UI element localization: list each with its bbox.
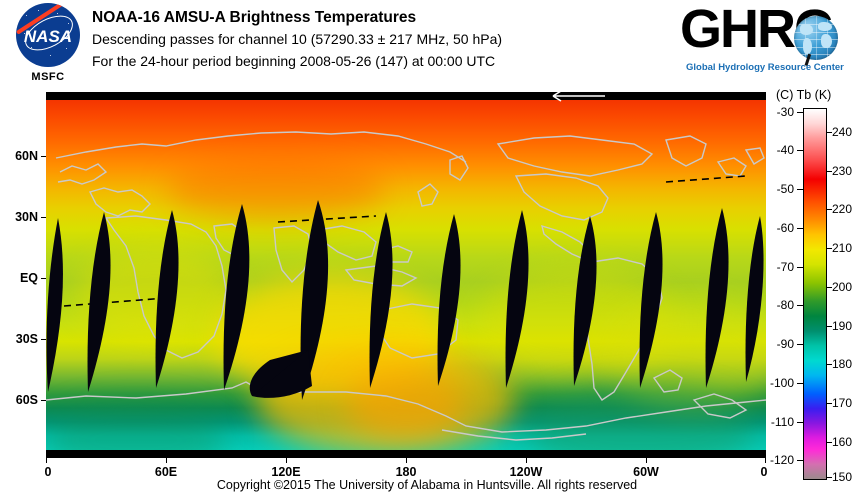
y-axis-label-60s: 60S bbox=[0, 393, 38, 407]
colorbar-gradient bbox=[803, 108, 827, 480]
colorbar-kelvin-label: 220 bbox=[832, 202, 852, 216]
ghrc-tagline: Global Hydrology Resource Center bbox=[686, 62, 836, 73]
y-axis-label-30n: 30N bbox=[0, 210, 38, 224]
nasa-insignia-circle: NASA bbox=[16, 3, 80, 67]
colorbar-kelvin-label: 180 bbox=[832, 357, 852, 371]
map-canvas[interactable] bbox=[46, 100, 766, 450]
x-tick bbox=[406, 458, 407, 463]
x-axis-label-60w: 60W bbox=[633, 465, 659, 479]
x-axis-label-180: 180 bbox=[396, 465, 417, 479]
colorbar-kelvin-label: 160 bbox=[832, 435, 852, 449]
colorbar-tick-left bbox=[797, 422, 803, 423]
ghrc-globe-icon bbox=[794, 16, 838, 60]
x-axis-label-120w: 120W bbox=[510, 465, 543, 479]
x-axis-label-60e: 60E bbox=[155, 465, 177, 479]
nasa-center-label: MSFC bbox=[8, 71, 88, 83]
colorbar-tick-left bbox=[797, 344, 803, 345]
colorbar-celsius-label: -60 bbox=[752, 221, 794, 235]
y-tick bbox=[41, 217, 46, 218]
nadir-arrow-icon bbox=[551, 90, 607, 102]
title-subtitle-channel: Descending passes for channel 10 (57290.… bbox=[92, 28, 672, 50]
colorbar-tick-left bbox=[797, 460, 803, 461]
x-tick bbox=[646, 458, 647, 463]
y-tick bbox=[41, 339, 46, 340]
colorbar-celsius-label: -90 bbox=[752, 337, 794, 351]
colorbar-celsius-label: -50 bbox=[752, 182, 794, 196]
colorbar-celsius-label: -100 bbox=[752, 376, 794, 390]
colorbar-tick-left bbox=[797, 150, 803, 151]
colorbar-celsius-label: -120 bbox=[752, 453, 794, 467]
x-tick bbox=[526, 458, 527, 463]
x-axis-label-0-right: 0 bbox=[761, 465, 768, 479]
y-tick bbox=[41, 278, 46, 279]
map-plot[interactable]: 0 60E 120E 180 120W 60W 0 60N 30N EQ 30S… bbox=[46, 92, 766, 458]
colorbar-kelvin-label: 230 bbox=[832, 164, 852, 178]
data-gap-swaths bbox=[46, 100, 766, 450]
page-title: NOAA-16 AMSU-A Brightness Temperatures bbox=[92, 8, 672, 28]
y-tick bbox=[41, 400, 46, 401]
colorbar-header: (C) Tb (K) bbox=[776, 88, 831, 102]
copyright-notice: Copyright ©2015 The University of Alabam… bbox=[0, 478, 854, 492]
colorbar-kelvin-label: 200 bbox=[832, 280, 852, 294]
colorbar-celsius-label: -70 bbox=[752, 260, 794, 274]
colorbar-celsius-label: -30 bbox=[752, 105, 794, 119]
colorbar-celsius-label: -110 bbox=[752, 415, 794, 429]
colorbar-kelvin-label: 240 bbox=[832, 125, 852, 139]
colorbar-tick-left bbox=[797, 383, 803, 384]
y-axis-label-eq: EQ bbox=[0, 271, 38, 285]
map-bottom-border bbox=[46, 450, 766, 458]
colorbar-kelvin-label: 170 bbox=[832, 396, 852, 410]
y-axis-label-60n: 60N bbox=[0, 149, 38, 163]
y-tick bbox=[41, 156, 46, 157]
title-block: NOAA-16 AMSU-A Brightness Temperatures D… bbox=[92, 8, 672, 72]
colorbar-tick-left bbox=[797, 305, 803, 306]
header: NASA MSFC NOAA-16 AMSU-A Brightness Temp… bbox=[0, 0, 854, 88]
nasa-logo: NASA MSFC bbox=[8, 3, 88, 87]
colorbar-celsius-label: -40 bbox=[752, 143, 794, 157]
colorbar: (C) Tb (K) -30 -40 -50 -60 -70 -80 -90 -… bbox=[782, 88, 854, 488]
colorbar-tick-left bbox=[797, 189, 803, 190]
colorbar-kelvin-label: 190 bbox=[832, 319, 852, 333]
x-axis-label-120e: 120E bbox=[271, 465, 300, 479]
title-subtitle-period: For the 24-hour period beginning 2008-05… bbox=[92, 50, 672, 72]
colorbar-tick-left bbox=[797, 228, 803, 229]
nasa-wordmark: NASA bbox=[16, 27, 80, 47]
x-tick bbox=[166, 458, 167, 463]
map-top-border bbox=[46, 92, 766, 100]
colorbar-tick-left bbox=[797, 267, 803, 268]
ghrc-logo: GHRC Global Hydrology Resource Center bbox=[680, 4, 840, 78]
x-tick bbox=[46, 458, 47, 463]
y-axis-label-30s: 30S bbox=[0, 332, 38, 346]
colorbar-celsius-label: -80 bbox=[752, 298, 794, 312]
colorbar-kelvin-label: 210 bbox=[832, 241, 852, 255]
x-axis-label-0: 0 bbox=[45, 465, 52, 479]
colorbar-tick-left bbox=[797, 112, 803, 113]
x-tick bbox=[286, 458, 287, 463]
